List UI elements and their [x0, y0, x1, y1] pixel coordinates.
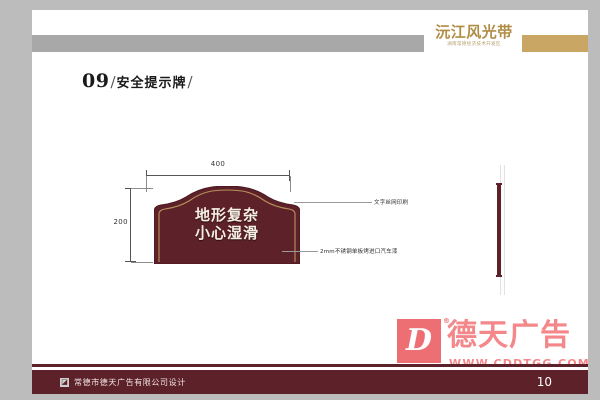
screenshot-root: 沅江风光带 湖南常德经济技术开发区 09/安全提示牌/ 400 200 [0, 0, 600, 400]
sign-text-line2: 小心湿滑 [154, 224, 300, 242]
document-page: 沅江风光带 湖南常德经济技术开发区 09/安全提示牌/ 400 200 [32, 10, 588, 394]
logo-company-name: 德天广告 [447, 321, 571, 351]
sign-side-view [496, 165, 508, 295]
logo-badge-icon: D [397, 319, 441, 363]
side-view-cap-top [496, 183, 502, 185]
footer-brand: ◪ 常德市德天广告有限公司设计 [60, 370, 186, 394]
footer-accent-line [32, 364, 588, 367]
extension-line-left [146, 176, 147, 192]
leader-line-top [294, 202, 372, 203]
logo-letter-d: D [406, 326, 432, 356]
sign-text-line1: 地形复杂 [154, 206, 300, 224]
leader-line-bottom [282, 251, 318, 252]
footer-company-text: 常德市德天广告有限公司设计 [74, 377, 186, 388]
extension-line-top [131, 188, 153, 189]
dimension-width-line [146, 175, 290, 176]
page-number: 10 [537, 370, 552, 394]
dimension-height-label: 200 [110, 218, 128, 226]
watermark-logo: D ® 德天广告 WWW.CDDTGG.COM [397, 315, 582, 377]
side-view-face [497, 183, 501, 277]
dimension-width-label: 400 [146, 160, 290, 168]
annotation-silkscreen: 文字丝网印刷 [374, 198, 408, 206]
sign-text-block: 地形复杂 小心湿滑 [154, 206, 300, 242]
extension-line-bottom [131, 262, 153, 263]
sign-front-view: 地形复杂 小心湿滑 [154, 186, 300, 264]
annotation-material: 2mm不锈钢单板烤进口汽车漆 [320, 247, 398, 255]
side-view-cap-bottom [496, 275, 502, 277]
footer-logo-icon: ◪ [60, 378, 69, 387]
dimension-height-line [130, 188, 131, 262]
footer-bar: ◪ 常德市德天广告有限公司设计 10 [32, 370, 588, 394]
